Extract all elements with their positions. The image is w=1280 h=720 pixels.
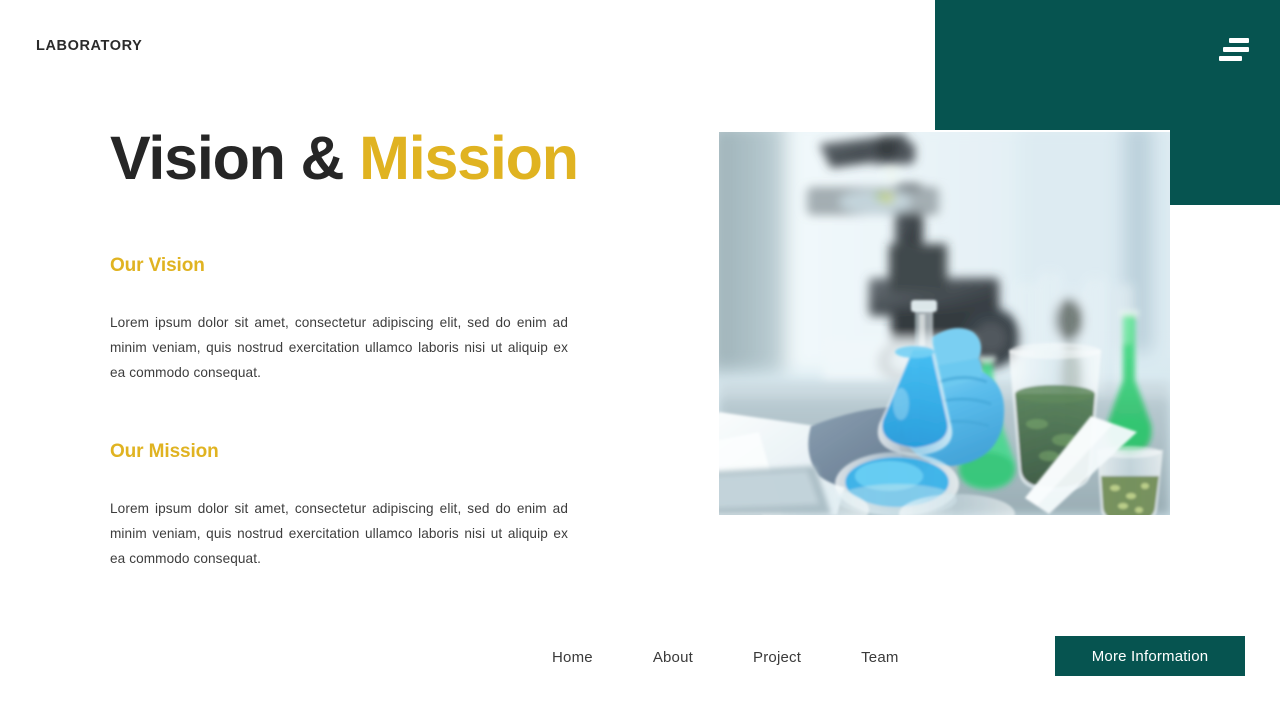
hamburger-bar-bottom	[1219, 56, 1242, 61]
page-title-primary: Vision &	[110, 124, 359, 192]
more-information-button[interactable]: More Information	[1055, 636, 1245, 676]
hamburger-menu-icon[interactable]	[1219, 34, 1251, 64]
section-body-mission: Lorem ipsum dolor sit amet, consectetur …	[110, 496, 568, 571]
page-title: Vision & Mission	[110, 126, 578, 190]
hamburger-bar-middle	[1223, 47, 1249, 52]
section-title-vision: Our Vision	[110, 255, 568, 277]
teal-accent-block	[1170, 130, 1280, 205]
hamburger-bar-top	[1229, 38, 1249, 43]
nav-link-about[interactable]: About	[653, 649, 693, 666]
laboratory-photo	[719, 132, 1170, 515]
slide-vision-mission: LABORATORY Vision & Mission Our Vision L…	[0, 0, 1280, 720]
nav-link-team[interactable]: Team	[861, 649, 898, 666]
brand-logo[interactable]: LABORATORY	[36, 38, 142, 54]
nav-link-home[interactable]: Home	[552, 649, 593, 666]
teal-header-block	[935, 0, 1280, 130]
page-title-accent: Mission	[359, 124, 578, 192]
section-our-mission: Our Mission Lorem ipsum dolor sit amet, …	[110, 441, 568, 571]
section-body-vision: Lorem ipsum dolor sit amet, consectetur …	[110, 310, 568, 385]
footer-navigation: Home About Project Team	[552, 645, 899, 669]
section-our-vision: Our Vision Lorem ipsum dolor sit amet, c…	[110, 255, 568, 385]
section-title-mission: Our Mission	[110, 441, 568, 463]
nav-link-project[interactable]: Project	[753, 649, 801, 666]
content-column: Our Vision Lorem ipsum dolor sit amet, c…	[110, 255, 568, 571]
